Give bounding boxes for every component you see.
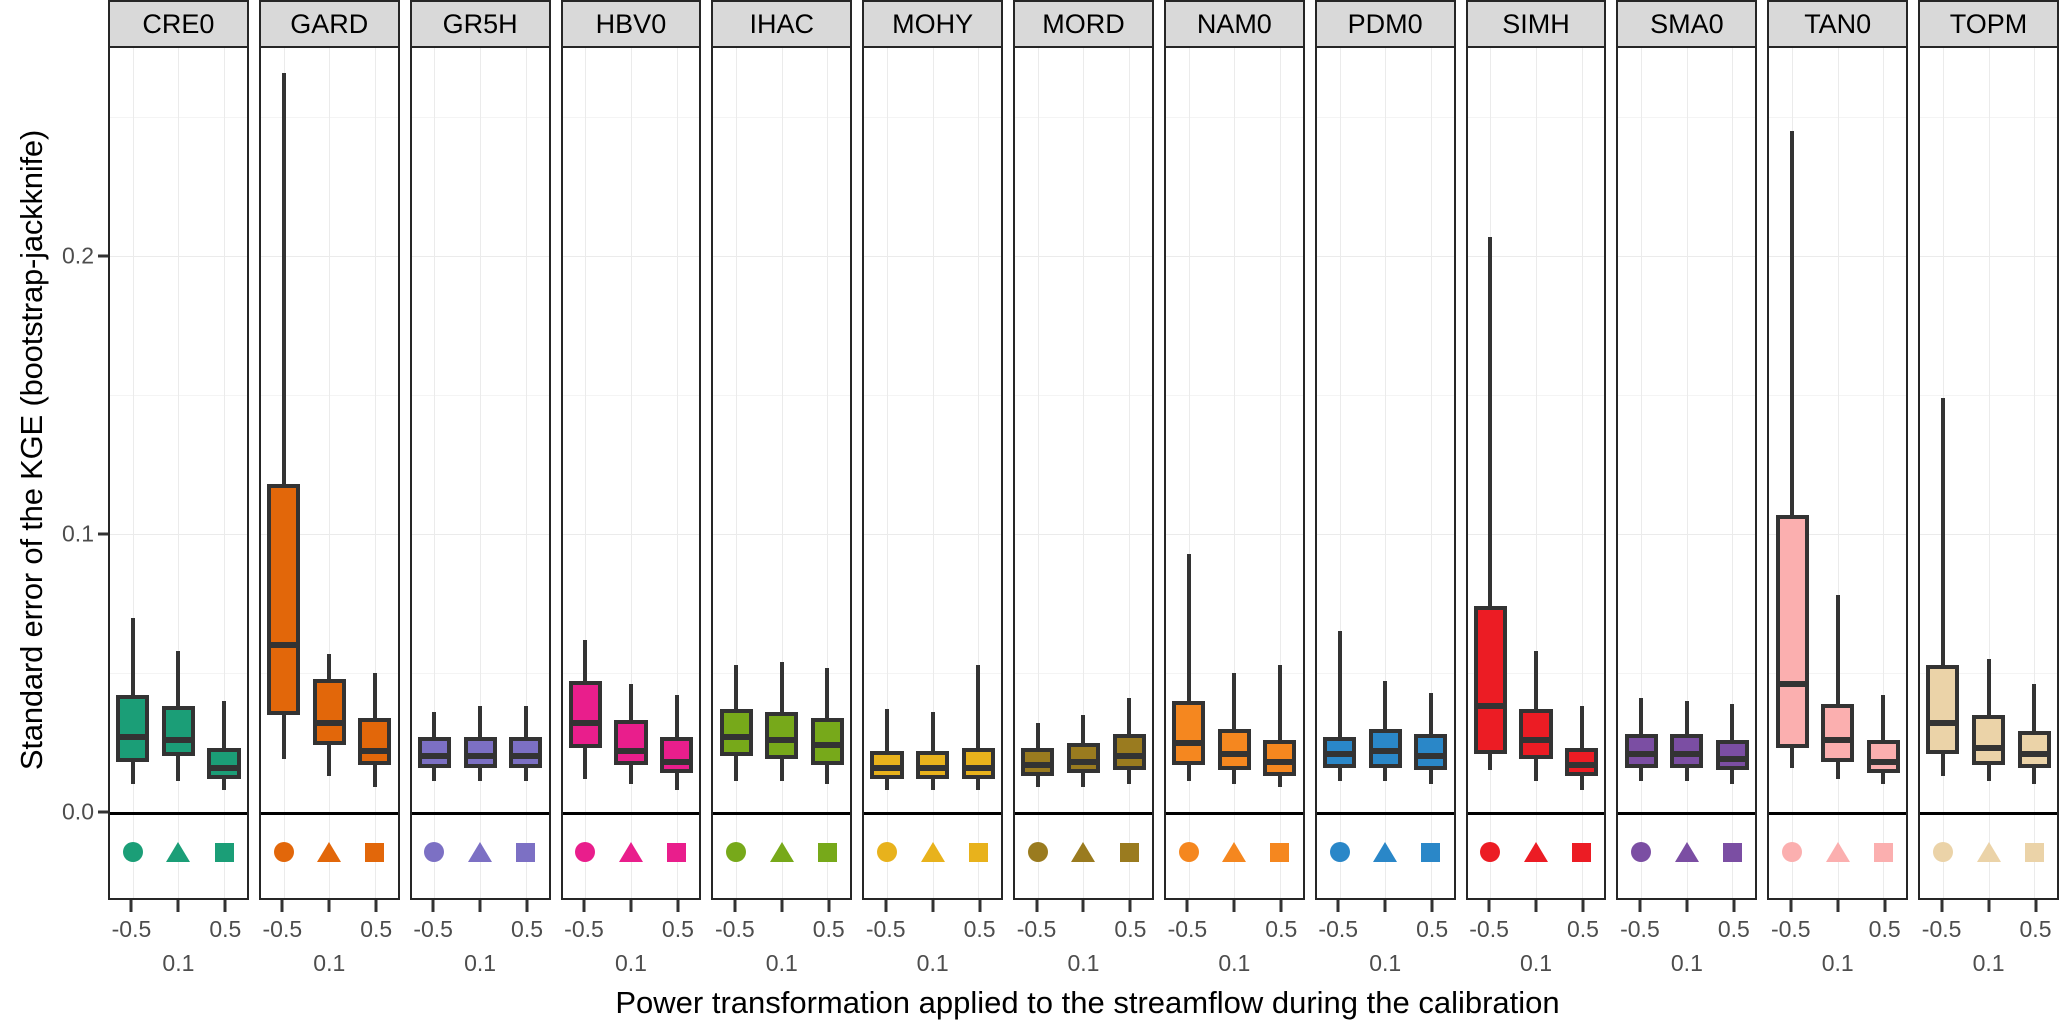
median-line <box>916 765 949 771</box>
x-axis-panel: -0.50.50.1 <box>1767 900 1908 960</box>
whisker-upper <box>1730 704 1734 740</box>
shape-marker-square-icon <box>1267 839 1293 865</box>
x-axis-group-label: 0.1 <box>464 950 496 977</box>
shape-marker-square-icon <box>1719 839 1745 865</box>
whisker-upper <box>478 706 482 737</box>
whisker-lower <box>1278 776 1282 787</box>
x-axis-tick-label: 0.5 <box>1567 916 1599 943</box>
plot-area <box>862 48 1003 900</box>
x-axis-tick-label: 0.5 <box>813 916 845 943</box>
facet-strip-label: PDM0 <box>1315 0 1456 48</box>
whisker-lower <box>524 768 528 782</box>
plot-area <box>1315 48 1456 900</box>
median-line <box>1972 745 2005 751</box>
median-line <box>1218 751 1251 757</box>
x-axis-tick-mark <box>827 900 830 912</box>
shape-marker-circle-icon <box>1477 839 1503 865</box>
shape-marker-triangle-icon <box>467 839 493 865</box>
facet-strip-label: GR5H <box>410 0 551 48</box>
shape-marker-triangle-icon <box>1976 839 2002 865</box>
whisker-lower <box>176 756 180 781</box>
box-iqr <box>569 681 602 748</box>
whisker-upper <box>1127 698 1131 734</box>
median-line <box>1867 759 1900 765</box>
y-axis-tick-label: 0.1 <box>62 521 94 548</box>
shape-marker-triangle-icon <box>1825 839 1851 865</box>
zero-baseline <box>1920 812 2057 815</box>
whisker-lower <box>327 745 331 776</box>
y-axis-tick-mark <box>98 533 108 536</box>
x-axis-group-label: 0.1 <box>1671 950 1703 977</box>
box-iqr <box>509 737 542 768</box>
whisker-lower <box>629 765 633 784</box>
x-axis-tick-mark <box>1685 900 1688 912</box>
whisker-lower <box>2032 768 2036 785</box>
median-line <box>1369 748 1402 754</box>
median-line <box>1716 756 1749 762</box>
facet-strip-label: TOPM <box>1918 0 2059 48</box>
whisker-lower <box>825 765 829 784</box>
box-iqr <box>962 748 995 779</box>
whisker-upper <box>432 712 436 737</box>
facet-panel-simh: SIMH <box>1466 0 1607 900</box>
shape-marker-circle-icon <box>874 839 900 865</box>
zero-baseline <box>713 812 850 815</box>
x-axis-tick-mark <box>130 900 133 912</box>
median-line <box>313 720 346 726</box>
x-axis-tick-mark <box>780 900 783 912</box>
box-iqr <box>614 720 647 764</box>
whisker-lower <box>976 779 980 790</box>
x-axis-tick-mark <box>978 900 981 912</box>
median-line <box>1323 751 1356 757</box>
box-iqr <box>313 679 346 746</box>
y-axis-title-text: Standard error of the KGE (bootstrap-jac… <box>14 130 50 770</box>
x-axis-tick-label: -0.5 <box>1469 916 1509 943</box>
whisker-lower <box>222 779 226 790</box>
whisker-upper <box>1338 631 1342 737</box>
facet-panel-hbv0: HBV0 <box>561 0 702 900</box>
shape-marker-triangle-icon <box>316 839 342 865</box>
whisker-lower <box>1488 754 1492 771</box>
box-iqr <box>1867 740 1900 773</box>
facet-strip-label: TAN0 <box>1767 0 1908 48</box>
median-line <box>962 765 995 771</box>
x-axis-tick-label: 0.5 <box>2020 916 2052 943</box>
x-axis-tick-mark <box>526 900 529 912</box>
whisker-lower <box>1685 768 1689 782</box>
whisker-lower <box>1429 770 1433 784</box>
whisker-lower <box>675 773 679 790</box>
facet-strip-label: GARD <box>259 0 400 48</box>
x-axis-group-label: 0.1 <box>766 950 798 977</box>
median-line <box>569 720 602 726</box>
box-iqr <box>1716 740 1749 771</box>
box-iqr <box>660 737 693 773</box>
facet-panel-cre0: CRE0 <box>108 0 249 900</box>
plot-area <box>711 48 852 900</box>
x-axis-group-label: 0.1 <box>1520 950 1552 977</box>
box-iqr <box>2018 731 2051 767</box>
shape-marker-circle-icon <box>1628 839 1654 865</box>
shape-marker-circle-icon <box>120 839 146 865</box>
x-axis-group-label: 0.1 <box>1369 950 1401 977</box>
x-axis-tick-label: 0.5 <box>1265 916 1297 943</box>
y-axis-tick-label: 0.2 <box>62 243 94 270</box>
box-iqr <box>267 484 300 715</box>
shape-marker-square-icon <box>1116 839 1142 865</box>
whisker-upper <box>1187 554 1191 701</box>
shape-marker-circle-icon <box>572 839 598 865</box>
shape-marker-triangle-icon <box>165 839 191 865</box>
zero-baseline <box>1317 812 1454 815</box>
x-axis-tick-mark <box>1940 900 1943 912</box>
median-line <box>720 734 753 740</box>
plot-area <box>1013 48 1154 900</box>
x-axis-tick-label: 0.5 <box>360 916 392 943</box>
box-iqr <box>162 706 195 756</box>
shape-marker-triangle-icon <box>1674 839 1700 865</box>
median-line <box>614 748 647 754</box>
whisker-upper <box>976 665 980 748</box>
whisker-lower <box>1534 759 1538 781</box>
x-axis-tick-mark <box>1431 900 1434 912</box>
x-axis-tick-mark <box>1535 900 1538 912</box>
whisker-upper <box>1383 681 1387 728</box>
plot-area <box>561 48 702 900</box>
median-line <box>1263 759 1296 765</box>
facet-panel-nam0: NAM0 <box>1164 0 1305 900</box>
facet-panel-row: CRE0GARDGR5HHBV0IHACMOHYMORDNAM0PDM0SIMH… <box>108 0 2059 900</box>
whisker-upper <box>1488 237 1492 606</box>
x-axis-tick-mark <box>1082 900 1085 912</box>
y-axis-title: Standard error of the KGE (bootstrap-jac… <box>0 0 64 900</box>
x-axis-group-label: 0.1 <box>1973 950 2005 977</box>
box-iqr <box>358 718 391 765</box>
box-iqr <box>207 748 240 779</box>
x-axis-panel: -0.50.50.1 <box>1013 900 1154 960</box>
x-axis-tick-mark <box>1337 900 1340 912</box>
x-axis-tick-mark <box>1186 900 1189 912</box>
facet-panel-mohy: MOHY <box>862 0 1003 900</box>
x-axis-tick-mark <box>432 900 435 912</box>
median-line <box>267 642 300 648</box>
whisker-upper <box>825 668 829 718</box>
shape-marker-triangle-icon <box>920 839 946 865</box>
box-iqr <box>1172 701 1205 765</box>
x-axis-tick-mark <box>1035 900 1038 912</box>
whisker-upper <box>1639 698 1643 734</box>
box-iqr <box>1113 734 1146 770</box>
median-line <box>162 737 195 743</box>
box-iqr <box>418 737 451 768</box>
zero-baseline <box>412 812 549 815</box>
facet-strip-label: NAM0 <box>1164 0 1305 48</box>
whisker-upper <box>1278 665 1282 740</box>
whisker-lower <box>1187 765 1191 782</box>
whisker-lower <box>282 715 286 759</box>
plot-area <box>1767 48 1908 900</box>
x-axis-tick-label: -0.5 <box>866 916 906 943</box>
shape-marker-triangle-icon <box>1221 839 1247 865</box>
x-axis-tick-mark <box>884 900 887 912</box>
whisker-upper <box>1685 701 1689 734</box>
facet-strip-label: HBV0 <box>561 0 702 48</box>
x-axis-panel: -0.50.50.1 <box>862 900 1003 960</box>
whisker-lower <box>432 768 436 782</box>
whisker-upper <box>1429 693 1433 735</box>
median-line <box>418 753 451 759</box>
whisker-upper <box>780 662 784 712</box>
x-axis-tick-mark <box>583 900 586 912</box>
facet-strip-label: SIMH <box>1466 0 1607 48</box>
x-axis-tick-label: -0.5 <box>1771 916 1811 943</box>
plot-area <box>108 48 249 900</box>
boxplot-figure: Standard error of the KGE (bootstrap-jac… <box>0 0 2067 1033</box>
facet-strip-label: IHAC <box>711 0 852 48</box>
x-axis-panel: -0.50.50.1 <box>1466 900 1607 960</box>
shape-marker-square-icon <box>362 839 388 865</box>
x-axis-panel: -0.50.50.1 <box>1918 900 2059 960</box>
whisker-upper <box>1081 715 1085 743</box>
whisker-lower <box>583 748 587 779</box>
x-axis-tick-mark <box>1581 900 1584 912</box>
median-line <box>207 765 240 771</box>
box-iqr <box>1776 515 1809 748</box>
shape-marker-square-icon <box>513 839 539 865</box>
shape-marker-circle-icon <box>1327 839 1353 865</box>
x-axis-tick-mark <box>676 900 679 912</box>
median-line <box>811 742 844 748</box>
whisker-upper <box>373 673 377 717</box>
shape-marker-square-icon <box>211 839 237 865</box>
whisker-upper <box>885 709 889 751</box>
box-iqr <box>720 709 753 756</box>
whisker-lower <box>1987 765 1991 782</box>
x-axis-tick-mark <box>224 900 227 912</box>
median-line <box>1519 737 1552 743</box>
whisker-lower <box>931 779 935 790</box>
whisker-upper <box>282 73 286 484</box>
shape-marker-circle-icon <box>271 839 297 865</box>
x-axis-tick-label: 0.5 <box>1718 916 1750 943</box>
facet-panel-pdm0: PDM0 <box>1315 0 1456 900</box>
x-axis-tick-mark <box>2034 900 2037 912</box>
x-axis-group-label: 0.1 <box>313 950 345 977</box>
x-axis: -0.50.50.1-0.50.50.1-0.50.50.1-0.50.50.1… <box>108 900 2059 960</box>
zero-baseline <box>1015 812 1152 815</box>
x-axis-group-label: 0.1 <box>1822 950 1854 977</box>
box-iqr <box>1218 729 1251 771</box>
x-axis-panel: -0.50.50.1 <box>1164 900 1305 960</box>
whisker-lower <box>1881 773 1885 784</box>
facet-panel-sma0: SMA0 <box>1616 0 1757 900</box>
whisker-upper <box>629 684 633 720</box>
median-line <box>1474 703 1507 709</box>
median-line <box>1821 737 1854 743</box>
whisker-lower <box>1790 748 1794 767</box>
shape-marker-square-icon <box>2021 839 2047 865</box>
plot-area <box>259 48 400 900</box>
shape-marker-square-icon <box>1418 839 1444 865</box>
shape-marker-square-icon <box>1870 839 1896 865</box>
median-line <box>1021 762 1054 768</box>
median-line <box>1414 753 1447 759</box>
whisker-upper <box>931 712 935 751</box>
whisker-upper <box>1987 659 1991 715</box>
box-iqr <box>811 718 844 765</box>
x-axis-tick-mark <box>1638 900 1641 912</box>
whisker-lower <box>1036 776 1040 787</box>
x-axis-panel: -0.50.50.1 <box>108 900 249 960</box>
box-iqr <box>1474 606 1507 753</box>
facet-strip-label: SMA0 <box>1616 0 1757 48</box>
shape-marker-triangle-icon <box>769 839 795 865</box>
y-axis-tick-label: 0.0 <box>62 799 94 826</box>
plot-area <box>1918 48 2059 900</box>
median-line <box>1670 751 1703 757</box>
whisker-lower <box>1639 768 1643 782</box>
whisker-lower <box>1338 768 1342 782</box>
facet-strip-label: CRE0 <box>108 0 249 48</box>
box-iqr <box>1519 709 1552 759</box>
whisker-lower <box>1127 770 1131 784</box>
whisker-lower <box>1383 768 1387 782</box>
zero-baseline <box>261 812 398 815</box>
whisker-upper <box>1941 398 1945 665</box>
whisker-upper <box>1881 695 1885 739</box>
facet-panel-ihac: IHAC <box>711 0 852 900</box>
x-axis-panel: -0.50.50.1 <box>1616 900 1757 960</box>
whisker-upper <box>1580 706 1584 748</box>
x-axis-tick-mark <box>1488 900 1491 912</box>
x-axis-panel: -0.50.50.1 <box>410 900 551 960</box>
x-axis-tick-mark <box>1233 900 1236 912</box>
box-iqr <box>1067 743 1100 774</box>
x-axis-group-label: 0.1 <box>1067 950 1099 977</box>
x-axis-tick-mark <box>328 900 331 912</box>
median-line <box>1776 681 1809 687</box>
x-axis-tick-label: 0.5 <box>1114 916 1146 943</box>
facet-strip-label: MOHY <box>862 0 1003 48</box>
shape-marker-circle-icon <box>421 839 447 865</box>
whisker-lower <box>1081 773 1085 787</box>
facet-panel-mord: MORD <box>1013 0 1154 900</box>
x-axis-tick-mark <box>733 900 736 912</box>
x-axis-tick-mark <box>1129 900 1132 912</box>
x-axis-tick-label: -0.5 <box>715 916 755 943</box>
x-axis-title: Power transformation applied to the stre… <box>108 985 2067 1021</box>
x-axis-tick-label: -0.5 <box>1017 916 1057 943</box>
box-iqr <box>1263 740 1296 776</box>
x-axis-tick-mark <box>375 900 378 912</box>
whisker-lower <box>1730 770 1734 784</box>
zero-baseline <box>563 812 700 815</box>
median-line <box>358 748 391 754</box>
x-axis-panel: -0.50.50.1 <box>259 900 400 960</box>
median-line <box>2018 751 2051 757</box>
x-axis-tick-label: 0.5 <box>662 916 694 943</box>
whisker-upper <box>524 706 528 737</box>
median-line <box>1625 751 1658 757</box>
box-iqr <box>116 695 149 762</box>
x-axis-tick-mark <box>1987 900 1990 912</box>
x-axis-panel: -0.50.50.1 <box>1315 900 1456 960</box>
whisker-upper <box>2032 684 2036 731</box>
whisker-lower <box>1836 762 1840 779</box>
plot-area <box>1616 48 1757 900</box>
median-line <box>1172 740 1205 746</box>
box-iqr <box>1972 715 2005 765</box>
whisker-lower <box>885 779 889 790</box>
shape-marker-square-icon <box>814 839 840 865</box>
shape-marker-triangle-icon <box>1372 839 1398 865</box>
median-line <box>1565 762 1598 768</box>
box-iqr <box>765 712 798 759</box>
whisker-lower <box>373 765 377 787</box>
zero-baseline <box>864 812 1001 815</box>
whisker-lower <box>734 756 738 781</box>
x-axis-tick-label: 0.5 <box>1869 916 1901 943</box>
shape-marker-circle-icon <box>1779 839 1805 865</box>
x-axis-tick-mark <box>1789 900 1792 912</box>
zero-baseline <box>1166 812 1303 815</box>
facet-panel-gr5h: GR5H <box>410 0 551 900</box>
facet-panel-tan0: TAN0 <box>1767 0 1908 900</box>
x-axis-tick-label: 0.5 <box>511 916 543 943</box>
x-axis-tick-mark <box>1384 900 1387 912</box>
plot-area <box>1466 48 1607 900</box>
zero-baseline <box>1769 812 1906 815</box>
shape-marker-triangle-icon <box>1070 839 1096 865</box>
x-axis-tick-mark <box>281 900 284 912</box>
median-line <box>1113 753 1146 759</box>
median-line <box>464 753 497 759</box>
x-axis-tick-label: -0.5 <box>564 916 604 943</box>
whisker-lower <box>131 762 135 784</box>
whisker-upper <box>1036 723 1040 748</box>
box-iqr <box>1821 704 1854 762</box>
shape-marker-square-icon <box>664 839 690 865</box>
x-axis-panel: -0.50.50.1 <box>561 900 702 960</box>
x-axis-tick-label: -0.5 <box>262 916 302 943</box>
whisker-upper <box>583 640 587 682</box>
whisker-lower <box>478 768 482 782</box>
x-axis-tick-mark <box>479 900 482 912</box>
whisker-upper <box>1534 651 1538 709</box>
median-line <box>1926 720 1959 726</box>
whisker-upper <box>1232 673 1236 729</box>
x-axis-tick-label: -0.5 <box>112 916 152 943</box>
x-axis-tick-label: -0.5 <box>1168 916 1208 943</box>
shape-marker-triangle-icon <box>618 839 644 865</box>
y-axis-tick-mark <box>98 255 108 258</box>
facet-strip-label: MORD <box>1013 0 1154 48</box>
zero-baseline <box>1468 812 1605 815</box>
whisker-upper <box>1836 595 1840 703</box>
shape-marker-circle-icon <box>1025 839 1051 865</box>
shape-marker-circle-icon <box>1176 839 1202 865</box>
shape-marker-triangle-icon <box>1523 839 1549 865</box>
x-axis-tick-mark <box>177 900 180 912</box>
box-iqr <box>464 737 497 768</box>
median-line <box>870 765 903 771</box>
whisker-upper <box>734 665 738 709</box>
shape-marker-square-icon <box>965 839 991 865</box>
facet-panel-topm: TOPM <box>1918 0 2059 900</box>
x-axis-tick-label: 0.5 <box>209 916 241 943</box>
x-axis-tick-mark <box>1883 900 1886 912</box>
